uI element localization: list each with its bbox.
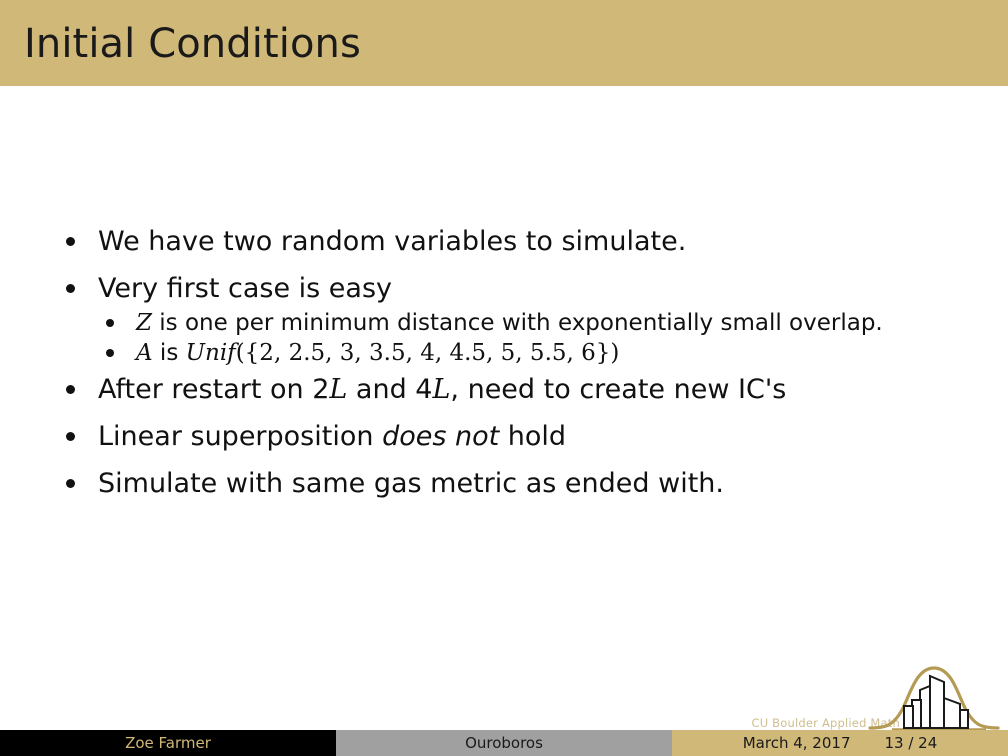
building-left-b (904, 706, 913, 728)
math-variable-a: A (136, 340, 153, 366)
bullet-text: is (153, 340, 186, 366)
footer-page-number: 13 / 24 (884, 734, 937, 752)
bullet-dot-icon (106, 349, 114, 357)
math-distribution-unif: Unif (186, 340, 236, 366)
bullet-dot-icon (66, 284, 75, 293)
bullet-text: We have two random variables to simulate… (98, 226, 686, 257)
bullet-dot-icon (66, 479, 75, 488)
bullet-dot-icon (106, 319, 114, 327)
bullet-dot-icon (66, 432, 75, 441)
building-right-b (960, 710, 968, 728)
bullet-text: After restart on 2 (98, 374, 329, 405)
list-item: After restart on 2L and 4L, need to crea… (62, 374, 992, 406)
slide-title-bar: Initial Conditions (0, 0, 1008, 86)
list-item: Z is one per minimum distance with expon… (98, 309, 992, 338)
bullet-list-level-1: We have two random variables to simulate… (62, 226, 992, 515)
math-variable-z: Z (136, 310, 152, 336)
footer-presentation-title: Ouroboros (336, 730, 672, 756)
math-variable-l-first: L (329, 374, 347, 405)
footer-author: Zoe Farmer (0, 730, 336, 756)
list-item: Simulate with same gas metric as ended w… (62, 468, 992, 500)
math-uniform-support-set: ({2, 2.5, 3, 3.5, 4, 4.5, 5, 5.5, 6}) (236, 340, 620, 366)
bullet-text: and 4 (347, 374, 432, 405)
bullet-text: Linear superposition (98, 421, 382, 452)
page-title: Initial Conditions (24, 22, 361, 66)
list-item: Linear superposition does not hold (62, 421, 992, 453)
footer-right: March 4, 2017 13 / 24 (672, 730, 1008, 756)
building-tall (930, 676, 944, 728)
list-item: We have two random variables to simulate… (62, 226, 992, 258)
bullet-text: Very first case is easy (98, 273, 392, 304)
bullet-list-level-2: Z is one per minimum distance with expon… (98, 309, 992, 368)
bullet-text: hold (499, 421, 566, 452)
slide-body: We have two random variables to simulate… (0, 86, 1008, 726)
beamer-slide: Initial Conditions We have two random va… (0, 0, 1008, 756)
building-right-a (944, 698, 960, 728)
bullet-text: Simulate with same gas metric as ended w… (98, 468, 724, 499)
emphasis-does-not: does not (382, 421, 499, 452)
bullet-dot-icon (66, 237, 75, 246)
bullet-dot-icon (66, 385, 75, 394)
bullet-text: , need to create new IC's (450, 374, 786, 405)
list-item: Very first case is easy Z is one per min… (62, 273, 992, 368)
footer-date: March 4, 2017 (743, 734, 851, 752)
bell-curve-skyline-logo (868, 662, 1000, 734)
list-item: A is Unif({2, 2.5, 3, 3.5, 4, 4.5, 5, 5.… (98, 339, 992, 368)
slide-footer: Zoe Farmer Ouroboros March 4, 2017 13 / … (0, 730, 1008, 756)
bullet-text: is one per minimum distance with exponen… (152, 310, 883, 336)
math-variable-l-second: L (432, 374, 450, 405)
